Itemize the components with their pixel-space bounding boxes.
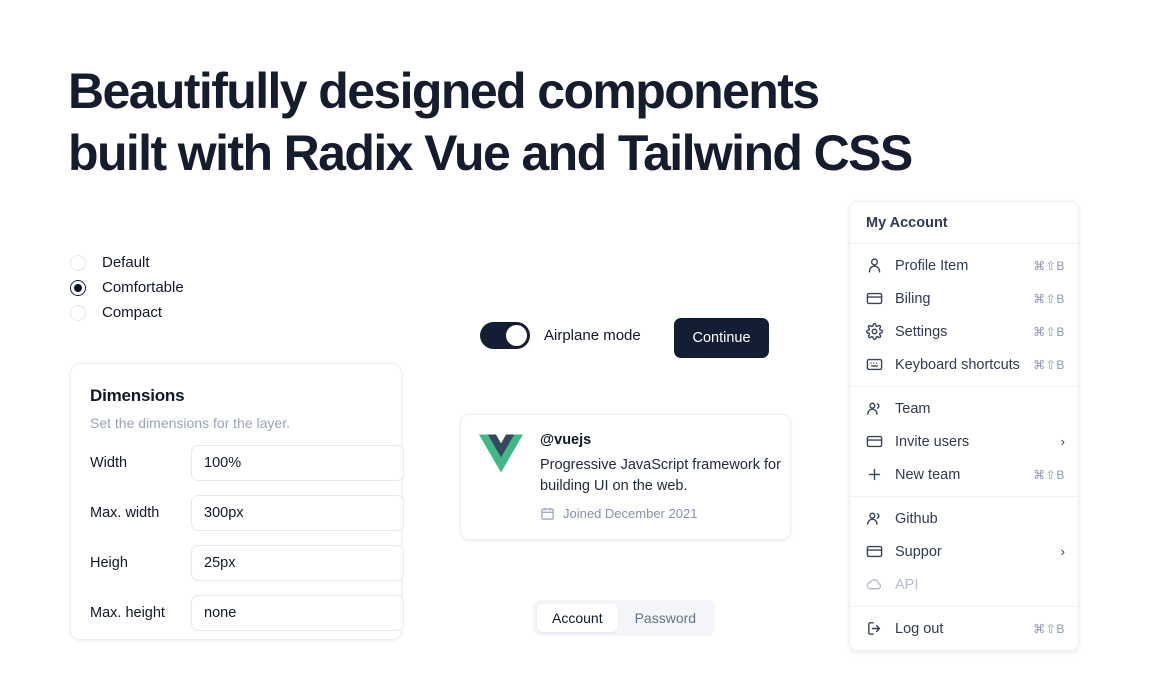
- dimension-input-heigh[interactable]: [191, 545, 404, 581]
- tabs: AccountPassword: [533, 600, 715, 636]
- credit-card-icon: [866, 290, 883, 307]
- radio-option-comfortable[interactable]: Comfortable: [70, 275, 184, 300]
- menu-item-api: API: [850, 568, 1078, 601]
- menu-header: My Account: [850, 202, 1078, 243]
- menu-item-keyboard-shortcuts[interactable]: Keyboard shortcuts⌘⇧B: [850, 348, 1078, 381]
- calendar-icon: [540, 506, 555, 521]
- menu-item-label: Keyboard shortcuts: [895, 357, 1033, 373]
- tab-password[interactable]: Password: [620, 604, 711, 632]
- menu-item-label: New team: [895, 467, 1033, 483]
- continue-button[interactable]: Continue: [674, 318, 769, 358]
- menu-item-label: Log out: [895, 621, 1033, 637]
- dimension-row: Max. width: [90, 495, 382, 531]
- menu-item-label: Biling: [895, 291, 1033, 307]
- menu-item-shortcut: ⌘⇧B: [1033, 325, 1065, 339]
- menu-item-biling[interactable]: Biling⌘⇧B: [850, 282, 1078, 315]
- vue-description: Progressive JavaScript framework for bui…: [540, 455, 785, 497]
- page-title-line-2: built with Radix Vue and Tailwind CSS: [68, 122, 1028, 184]
- plus-icon: [866, 466, 883, 483]
- menu-item-shortcut: ⌘⇧B: [1033, 358, 1065, 372]
- vue-handle: @vuejs: [540, 432, 785, 448]
- credit-card-icon: [866, 433, 883, 450]
- menu-item-label: Profile Item: [895, 258, 1033, 274]
- menu-item-github[interactable]: Github: [850, 502, 1078, 535]
- user-icon: [866, 257, 883, 274]
- dimensions-title: Dimensions: [90, 386, 382, 406]
- page-title-line-1: Beautifully designed components: [68, 60, 1028, 122]
- cloud-icon: [866, 576, 883, 593]
- menu-item-label: Suppor: [895, 544, 1061, 560]
- tab-account[interactable]: Account: [537, 604, 618, 632]
- page-root: Beautifully designed components built wi…: [0, 0, 1152, 700]
- radio-indicator[interactable]: [70, 280, 86, 296]
- dimension-row: Max. height: [90, 595, 382, 631]
- menu-item-log-out[interactable]: Log out⌘⇧B: [850, 612, 1078, 645]
- users-icon: [866, 510, 883, 527]
- dimensions-card: Dimensions Set the dimensions for the la…: [70, 363, 402, 640]
- page-title: Beautifully designed components built wi…: [68, 60, 1028, 184]
- menu-item-invite-users[interactable]: Invite users›: [850, 425, 1078, 458]
- menu-item-label: API: [895, 577, 1065, 593]
- dimension-label-heigh: Heigh: [90, 555, 191, 571]
- credit-card-icon: [866, 543, 883, 560]
- menu-item-label: Settings: [895, 324, 1033, 340]
- radio-label: Comfortable: [102, 279, 184, 296]
- logout-icon: [866, 620, 883, 637]
- dimension-label-max-height: Max. height: [90, 605, 191, 621]
- menu-item-new-team[interactable]: New team⌘⇧B: [850, 458, 1078, 491]
- menu-item-shortcut: ⌘⇧B: [1033, 292, 1065, 306]
- dimension-input-width[interactable]: [191, 445, 404, 481]
- vue-logo-icon: [479, 434, 523, 473]
- dimension-input-max-width[interactable]: [191, 495, 404, 531]
- menu-item-label: Github: [895, 511, 1065, 527]
- airplane-mode-switch[interactable]: [480, 322, 530, 349]
- radio-indicator[interactable]: [70, 255, 86, 271]
- radio-label: Compact: [102, 304, 162, 321]
- dimensions-description: Set the dimensions for the layer.: [90, 415, 382, 431]
- menu-item-shortcut: ⌘⇧B: [1033, 622, 1065, 636]
- dimension-input-max-height[interactable]: [191, 595, 404, 631]
- chevron-right-icon: ›: [1061, 544, 1065, 559]
- menu-item-label: Invite users: [895, 434, 1061, 450]
- menu-group: GithubSuppor›API: [850, 497, 1078, 606]
- dimension-row: Heigh: [90, 545, 382, 581]
- radio-option-compact[interactable]: Compact: [70, 300, 184, 325]
- gear-icon: [866, 323, 883, 340]
- radio-group: DefaultComfortableCompact: [70, 250, 184, 325]
- menu-item-profile-item[interactable]: Profile Item⌘⇧B: [850, 249, 1078, 282]
- chevron-right-icon: ›: [1061, 434, 1065, 449]
- vue-joined-row: Joined December 2021: [540, 506, 785, 521]
- menu-item-suppor[interactable]: Suppor›: [850, 535, 1078, 568]
- dimension-row: Width: [90, 445, 382, 481]
- vue-joined-text: Joined December 2021: [563, 506, 697, 521]
- menu-group: TeamInvite users›New team⌘⇧B: [850, 387, 1078, 496]
- account-dropdown-menu: My Account Profile Item⌘⇧BBiling⌘⇧BSetti…: [849, 201, 1079, 651]
- radio-option-default[interactable]: Default: [70, 250, 184, 275]
- radio-indicator[interactable]: [70, 305, 86, 321]
- dimension-label-max-width: Max. width: [90, 505, 191, 521]
- menu-group: Log out⌘⇧B: [850, 607, 1078, 650]
- keyboard-icon: [866, 356, 883, 373]
- switch-knob: [506, 325, 527, 346]
- menu-group: Profile Item⌘⇧BBiling⌘⇧BSettings⌘⇧BKeybo…: [850, 244, 1078, 386]
- airplane-mode-label: Airplane mode: [544, 327, 641, 344]
- airplane-mode-switch-row: Airplane mode: [480, 322, 641, 349]
- menu-item-label: Team: [895, 401, 1065, 417]
- menu-item-shortcut: ⌘⇧B: [1033, 468, 1065, 482]
- menu-item-settings[interactable]: Settings⌘⇧B: [850, 315, 1078, 348]
- radio-label: Default: [102, 254, 150, 271]
- vue-hover-card: @vuejs Progressive JavaScript framework …: [460, 414, 791, 540]
- menu-item-shortcut: ⌘⇧B: [1033, 259, 1065, 273]
- menu-item-team[interactable]: Team: [850, 392, 1078, 425]
- dimension-label-width: Width: [90, 455, 191, 471]
- users-icon: [866, 400, 883, 417]
